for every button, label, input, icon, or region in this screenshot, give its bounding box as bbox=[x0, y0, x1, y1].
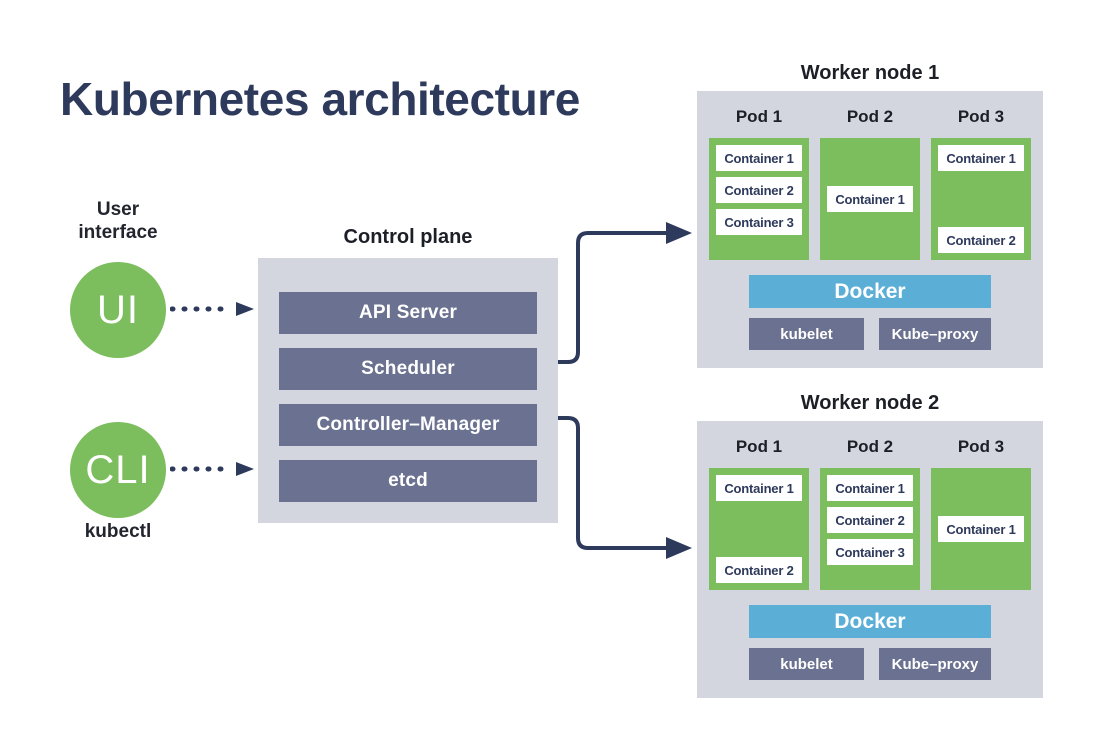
worker-node-2-pod-1[interactable]: Container 1 Container 2 bbox=[709, 468, 809, 590]
worker-node-1-pod-3[interactable]: Container 1 Container 2 bbox=[931, 138, 1031, 260]
control-plane-item-scheduler[interactable]: Scheduler bbox=[279, 348, 537, 390]
kubernetes-architecture-diagram: Kubernetes architecture User interface U… bbox=[0, 0, 1101, 751]
worker-node-2-pod-1-label: Pod 1 bbox=[709, 437, 809, 457]
user-interface-label-line2: interface bbox=[58, 221, 178, 244]
worker-node-2-docker-runtime[interactable]: Docker bbox=[749, 605, 991, 638]
kubectl-label: kubectl bbox=[58, 520, 178, 543]
page-title: Kubernetes architecture bbox=[60, 72, 580, 126]
control-plane-item-etcd[interactable]: etcd bbox=[279, 460, 537, 502]
worker-node-2-pod-3[interactable]: Container 1 bbox=[931, 468, 1031, 590]
user-interface-label-line1: User bbox=[58, 198, 178, 221]
container-chip: Container 2 bbox=[938, 227, 1024, 253]
ui-node[interactable]: UI bbox=[70, 262, 166, 358]
worker-node-2-kube-proxy[interactable]: Kube–proxy bbox=[879, 648, 991, 680]
control-plane-item-controller-manager[interactable]: Controller–Manager bbox=[279, 404, 537, 446]
container-chip: Container 3 bbox=[716, 209, 802, 235]
worker-node-2-pod-2[interactable]: Container 1 Container 2 Container 3 bbox=[820, 468, 920, 590]
container-chip: Container 1 bbox=[938, 145, 1024, 171]
container-chip: Container 1 bbox=[716, 145, 802, 171]
worker-node-1-panel: Pod 1 Container 1 Container 2 Container … bbox=[697, 91, 1043, 368]
ui-node-label: UI bbox=[97, 288, 139, 333]
worker-node-2-pod-2-label: Pod 2 bbox=[820, 437, 920, 457]
container-chip: Container 2 bbox=[827, 507, 913, 533]
worker-node-1-pod-1-label: Pod 1 bbox=[709, 107, 809, 127]
control-plane-item-api-server[interactable]: API Server bbox=[279, 292, 537, 334]
user-interface-label: User interface bbox=[58, 198, 178, 244]
worker-node-1-pod-2[interactable]: Container 1 bbox=[820, 138, 920, 260]
control-plane-panel: API Server Scheduler Controller–Manager … bbox=[258, 258, 558, 523]
container-chip: Container 1 bbox=[938, 516, 1024, 542]
worker-node-1-pod-2-label: Pod 2 bbox=[820, 107, 920, 127]
worker-node-1-title: Worker node 1 bbox=[697, 62, 1043, 85]
container-chip: Container 2 bbox=[716, 557, 802, 583]
worker-node-1-kube-proxy[interactable]: Kube–proxy bbox=[879, 318, 991, 350]
container-chip: Container 2 bbox=[716, 177, 802, 203]
worker-node-1-pod-3-label: Pod 3 bbox=[931, 107, 1031, 127]
worker-node-1-pod-1[interactable]: Container 1 Container 2 Container 3 bbox=[709, 138, 809, 260]
cli-to-control-plane-arrow bbox=[170, 462, 256, 476]
ui-to-control-plane-arrow bbox=[170, 302, 256, 316]
control-plane-title: Control plane bbox=[258, 226, 558, 249]
worker-node-2-panel: Pod 1 Container 1 Container 2 Pod 2 Cont… bbox=[697, 421, 1043, 698]
cli-node[interactable]: CLI bbox=[70, 422, 166, 518]
worker-node-2-title: Worker node 2 bbox=[697, 392, 1043, 415]
worker-node-1-kubelet[interactable]: kubelet bbox=[749, 318, 864, 350]
worker-node-2-kubelet[interactable]: kubelet bbox=[749, 648, 864, 680]
container-chip: Container 3 bbox=[827, 539, 913, 565]
worker-node-1-docker-runtime[interactable]: Docker bbox=[749, 275, 991, 308]
worker-node-2-pod-3-label: Pod 3 bbox=[931, 437, 1031, 457]
container-chip: Container 1 bbox=[716, 475, 802, 501]
cli-node-label: CLI bbox=[85, 448, 150, 493]
container-chip: Container 1 bbox=[827, 475, 913, 501]
container-chip: Container 1 bbox=[827, 186, 913, 212]
